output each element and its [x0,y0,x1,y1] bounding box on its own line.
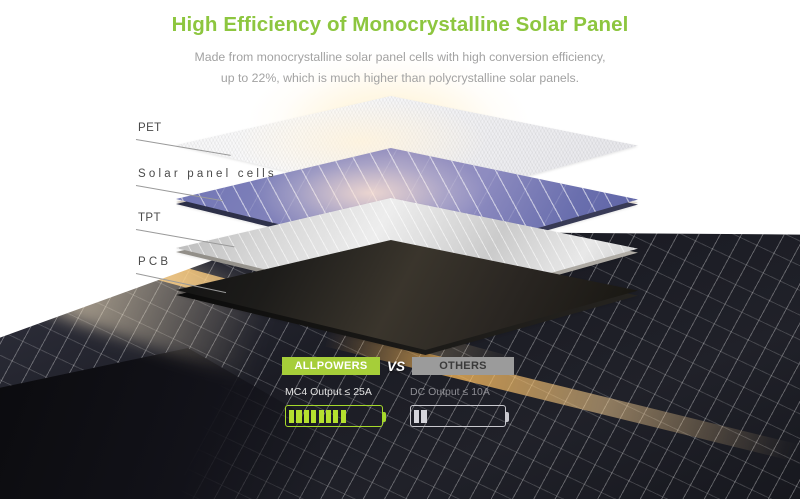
battery-bar [304,410,309,423]
battery-bar [296,410,301,423]
others-badge: OTHERS [412,357,514,375]
subtitle-line-2: up to 22%, which is much higher than pol… [0,68,800,89]
comparison-battery-row [282,405,527,431]
battery-bar [289,410,294,423]
comparison-overlay: ALLPOWERS VS OTHERS MC4 Output ≤ 25A DC … [282,357,527,447]
others-battery-bars [411,406,430,426]
brand-battery-tip [382,412,386,422]
battery-bar [326,410,331,423]
brand-battery-indicator [285,405,383,427]
layer-pcb-face [176,240,638,350]
battery-bar [319,410,324,423]
layer-label-pet: PET [138,122,162,134]
layer-label-pcb: PCB [138,256,171,268]
page-subtitle: Made from monocrystalline solar panel ce… [0,47,800,89]
layer-label-tpt: TPT [138,212,161,224]
layer-label-solar-panel-cells: Solar panel cells [138,168,277,180]
brand-spec-label: MC4 Output ≤ 25A [285,386,372,398]
others-battery-tip [505,412,509,422]
vs-label: VS [387,359,405,374]
infographic-canvas: High Efficiency of Monocrystalline Solar… [0,0,800,499]
battery-bar [421,410,426,423]
battery-bar [414,410,419,423]
layer-pcb [176,240,638,350]
subtitle-line-1: Made from monocrystalline solar panel ce… [0,47,800,68]
battery-bar [341,410,346,423]
brand-battery-bars [286,406,349,426]
brand-badge-allpowers: ALLPOWERS [282,357,380,375]
others-spec-label: DC Output ≤ 10A [410,386,490,398]
battery-bar [333,410,338,423]
battery-bar [311,410,316,423]
comparison-badge-row: ALLPOWERS VS OTHERS [282,357,514,375]
page-title: High Efficiency of Monocrystalline Solar… [0,12,800,38]
others-battery-indicator [410,405,506,427]
headline-block: High Efficiency of Monocrystalline Solar… [0,12,800,89]
